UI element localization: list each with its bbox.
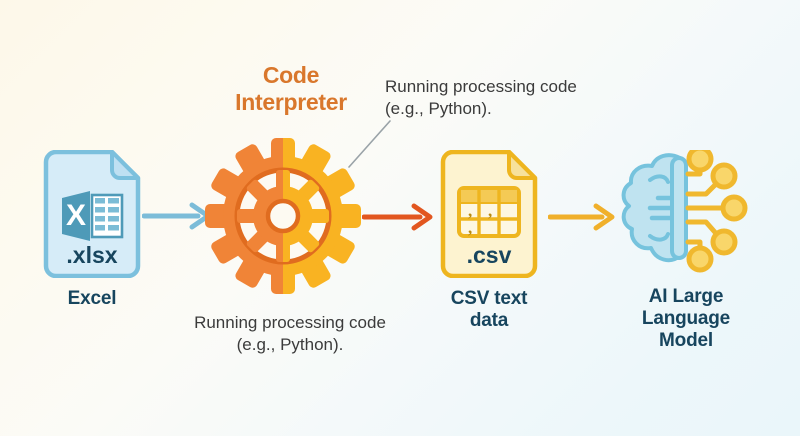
csv-extension-label: .csv (467, 242, 512, 268)
csv-file-icon: , , , .csv (437, 150, 541, 278)
xlsx-file-icon: X .xlsx (40, 150, 144, 278)
diagram-canvas: Code Interpreter Running processing code… (0, 0, 800, 436)
annotation-top: Running processing code (e.g., Python). (385, 76, 600, 120)
llm-caption-line2: Language (642, 308, 730, 330)
code-interpreter-title-line1: Code (196, 62, 386, 89)
csv-caption-line1: CSV text (451, 288, 528, 310)
arrow-interpreter-to-csv (362, 201, 440, 233)
ai-brain-circuit-icon (620, 150, 752, 276)
svg-text:,: , (468, 218, 472, 237)
node-ai-llm[interactable]: AI Large Language Model (620, 150, 752, 352)
gear-icon (203, 136, 363, 296)
xlsx-badge-letter: X (66, 199, 86, 232)
annotation-bottom: Running processing code (e.g., Python). (175, 312, 405, 356)
csv-caption-line2: data (451, 310, 528, 332)
node-code-interpreter[interactable] (203, 136, 363, 296)
xlsx-extension-label: .xlsx (66, 242, 117, 268)
llm-caption-line3: Model (642, 330, 730, 352)
csv-table-grid: , , , (459, 188, 519, 237)
gear-inner (237, 170, 329, 262)
node-csv[interactable]: , , , .csv CSV text data (437, 150, 541, 332)
svg-text:,: , (488, 201, 492, 220)
arrow-csv-to-llm (548, 201, 622, 233)
code-interpreter-title-line2: Interpreter (196, 89, 386, 116)
excel-caption: Excel (68, 288, 117, 310)
csv-caption: CSV text data (451, 288, 528, 332)
code-interpreter-title: Code Interpreter (196, 62, 386, 116)
llm-caption-line1: AI Large (642, 286, 730, 308)
node-excel[interactable]: X .xlsx Excel (40, 150, 144, 310)
llm-caption: AI Large Language Model (642, 286, 730, 352)
